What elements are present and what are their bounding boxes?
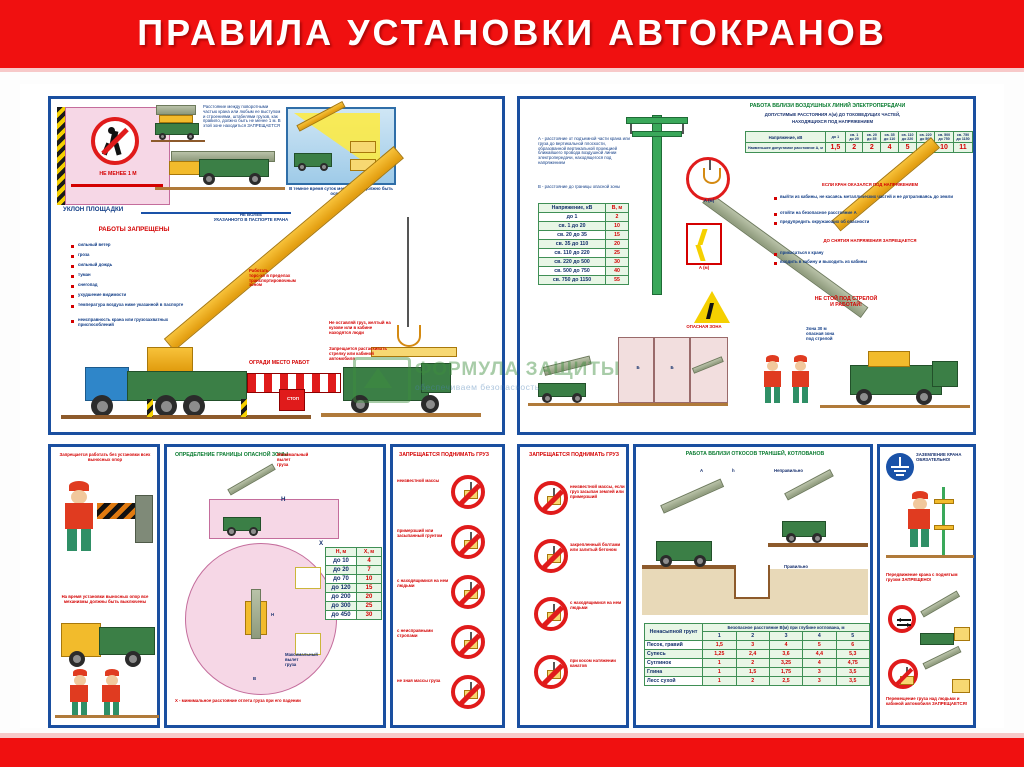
no-move-with-load-icon xyxy=(888,605,916,633)
panel-forbidden-lift-1: ЗАПРЕЩАЕТСЯ ПОДНИМАТЬ ГРУЗ неизвестной м… xyxy=(390,444,505,728)
bottom-note: Перемещение груза над людьми и кабиной а… xyxy=(886,697,972,707)
crane-boom-left-bank xyxy=(660,479,724,514)
table-cell: 30 xyxy=(357,611,382,620)
table-cell: св. 110 до 220 xyxy=(539,249,606,258)
forbidden-work-item: гроза xyxy=(78,253,186,258)
prohibition-icon xyxy=(534,481,568,515)
table-cell: Глина xyxy=(645,668,703,677)
ground-right xyxy=(768,543,868,547)
table-cell: 20 xyxy=(357,593,382,602)
pylon-crossarm xyxy=(632,131,682,137)
crane-plan-boom xyxy=(251,589,261,639)
crane-cab-right xyxy=(932,361,958,387)
suspended-load xyxy=(954,627,970,641)
table-header-cell: Безопасное расстояние В(м) при глубине к… xyxy=(703,624,870,632)
table-header-cell: 3 xyxy=(769,632,802,641)
ground-line xyxy=(61,415,311,419)
table-cell: 11 xyxy=(954,143,973,153)
table-row: до 7010 xyxy=(326,575,382,584)
list-bullet xyxy=(71,275,74,278)
table-cell: 4 xyxy=(769,641,802,650)
table-cell: 2 xyxy=(736,677,769,686)
outrigger xyxy=(147,399,153,417)
under-voltage-title: ЕСЛИ КРАН ОКАЗАЛСЯ ПОД НАПРЯЖЕНИЕМ xyxy=(770,183,970,188)
table-cell: до 300 xyxy=(326,602,357,611)
worker-figure xyxy=(59,481,99,551)
pylon-crossarm xyxy=(626,117,688,124)
worker-figure xyxy=(99,669,123,715)
power-line-title-3: НАХОДЯЩИХСЯ ПОД НАПРЯЖЕНИЕМ xyxy=(690,120,975,125)
table-row: до 207 xyxy=(326,566,382,575)
page-title: ПРАВИЛА УСТАНОВКИ АВТОКРАНОВ xyxy=(0,12,1024,54)
list-bullet xyxy=(71,265,74,268)
shock-caption: А (м) xyxy=(680,266,728,271)
wheel xyxy=(249,527,258,536)
table-header-cell: св. 750 до 1150 xyxy=(954,132,973,143)
worker-zone-note: Работать торс-хо в пределах транспортиро… xyxy=(249,269,305,288)
table-cell: 25 xyxy=(606,249,629,258)
table-cell: 2 xyxy=(863,143,881,153)
table-cell: до 450 xyxy=(326,611,357,620)
table-row: св. 20 до 3515 xyxy=(539,231,629,240)
panel-outriggers: Запрещается работать без установки всех … xyxy=(48,444,160,728)
table-cell: Суглинок xyxy=(645,659,703,668)
clearance-arrow xyxy=(71,184,163,187)
forbidden-work-item: ухудшение видимости xyxy=(78,293,186,298)
watermark-logo xyxy=(353,357,411,403)
table-cell: 10 xyxy=(606,222,629,231)
label-wrong: Неправильно xyxy=(774,469,803,474)
wheel xyxy=(856,389,872,405)
table-row: Лесс сухой122,533,5 xyxy=(645,677,870,686)
table-header-cell: 2 xyxy=(736,632,769,641)
wheel xyxy=(812,533,822,543)
earth-clamp xyxy=(934,525,954,530)
crane-chassis-b6 xyxy=(920,633,954,645)
table-header-cell: X, м xyxy=(357,548,382,557)
earth-rod xyxy=(942,487,945,557)
table-cell: 4 xyxy=(881,143,899,153)
list-item: предупредить окружающих об опасности xyxy=(780,220,972,225)
table-header-cell: Напряжение, кВ xyxy=(746,132,826,143)
no-pedestrian-caption: НЕ МЕНЕЕ 1 М xyxy=(69,172,167,178)
table-row: св. 500 до 75040 xyxy=(539,267,629,276)
list-bullet xyxy=(774,262,777,265)
table-header-cell: св. 500 до 750 xyxy=(935,132,954,143)
hook-icon xyxy=(397,325,421,347)
prohibition-icon xyxy=(534,539,568,573)
no-load-over-people-icon xyxy=(888,659,918,689)
table-header-cell: В, м xyxy=(606,204,629,213)
label-h: h xyxy=(732,469,735,474)
prohibition-label: примерзший или засыпанный грунтом xyxy=(397,529,449,539)
stacked-load-top xyxy=(156,105,196,115)
worker-figure xyxy=(67,669,91,715)
prohibition-icon xyxy=(451,475,485,509)
worker-figure xyxy=(904,491,934,547)
table-cell: 1 xyxy=(703,677,736,686)
table-row: Суглинок123,2544,75 xyxy=(645,659,870,668)
table-cell: 1,5 xyxy=(825,143,845,153)
wheel xyxy=(187,133,194,140)
prohibition-icon xyxy=(534,655,568,689)
table-cell: 15 xyxy=(357,584,382,593)
table-header-cell: Наименьшее допустимое расстояние А, м xyxy=(746,143,826,153)
wheel xyxy=(91,395,113,417)
table-cell: 3,6 xyxy=(769,650,802,659)
prohibition-label: с находящимися на нем людьми xyxy=(397,579,449,589)
hx-table: H, мX, мдо 104до 207до 7010до 12015до 20… xyxy=(325,547,382,620)
forbidden-work-item: туман xyxy=(78,273,186,278)
table-row: Супесь1,252,43,64,45,3 xyxy=(645,650,870,659)
wheel xyxy=(183,395,205,417)
prohibition-label: не зная массы груза xyxy=(397,679,449,684)
table-header-cell: до 1 xyxy=(825,132,845,143)
crane-boom-b6-2 xyxy=(922,646,961,670)
table-header-cell: св. 20 до 35 xyxy=(863,132,881,143)
allowed-distance-table: Напряжение, кВдо 1св. 1 до 20св. 20 до 3… xyxy=(745,131,973,153)
list-item: входить в кабину и выходить из кабины xyxy=(780,260,972,265)
crane-superstructure xyxy=(169,161,201,175)
table-cell: св. 20 до 35 xyxy=(539,231,606,240)
list-bullet xyxy=(71,305,74,308)
trench xyxy=(734,565,770,599)
table-row: Напряжение, кВдо 1св. 1 до 20св. 20 до 3… xyxy=(746,132,973,143)
wheel xyxy=(694,555,706,567)
table-header-cell: 4 xyxy=(803,632,836,641)
table-row: до 20020 xyxy=(326,593,382,602)
table-header-cell: 1 xyxy=(703,632,736,641)
outrigger xyxy=(241,399,247,417)
danger-zone-circle xyxy=(686,157,730,201)
panel-earthing: ЗАЗЕМЛЕНИЕ КРАНА ОБЯЗАТЕЛЬНО! Передвижен… xyxy=(877,444,976,728)
table-cell: Лесс сухой xyxy=(645,677,703,686)
table-cell: 4 xyxy=(357,557,382,566)
ground-line xyxy=(155,187,285,190)
wheel xyxy=(660,555,672,567)
ground-line xyxy=(321,413,481,417)
panel-forbidden-lift-2: ЗАПРЕЩАЕТСЯ ПОДНИМАТЬ ГРУЗ неизвестной м… xyxy=(517,444,629,728)
table-cell: 2 xyxy=(845,143,863,153)
prohibition-icon xyxy=(534,597,568,631)
list-item: выйти из кабины, не касаясь металлически… xyxy=(780,195,972,200)
table-cell: 6 xyxy=(836,641,870,650)
forbidden-lift-title-2: ЗАПРЕЩАЕТСЯ ПОДНИМАТЬ ГРУЗ xyxy=(524,453,624,459)
table-cell: св. 35 до 110 xyxy=(539,240,606,249)
worker-figure xyxy=(788,355,812,403)
stacked-load-mid xyxy=(159,115,193,123)
danger-zone-label: ОПАСНАЯ ЗОНА xyxy=(680,325,728,330)
list-bullet xyxy=(774,213,777,216)
zone-note: Зона 30 м опасная зона под стрелой xyxy=(806,327,862,341)
truck-chassis xyxy=(99,627,155,655)
prohibition-icon xyxy=(451,625,485,659)
header-band: ПРАВИЛА УСТАНОВКИ АВТОКРАНОВ xyxy=(0,0,1024,68)
watermark-brand: ФОРМУЛА ЗАЩИТЫ xyxy=(415,359,621,381)
crane-boom-sm xyxy=(227,463,276,495)
table-cell: 55 xyxy=(606,276,629,285)
table-cell: 30 xyxy=(606,258,629,267)
wheel xyxy=(786,533,796,543)
table-cell: 1,5 xyxy=(736,668,769,677)
table-cell: 15 xyxy=(606,231,629,240)
table-cell: 1 xyxy=(703,668,736,677)
fence-label: ОГРАДИ МЕСТО РАБОТ xyxy=(249,361,309,367)
plan-angle: H xyxy=(271,613,274,618)
table-header-cell: Ненасыпной грунт xyxy=(645,624,703,641)
table-header-cell: св. 110 до 220 xyxy=(899,132,917,143)
before-off-title: ДО СНЯТИЯ НАПРЯЖЕНИЯ ЗАПРЕЩАЕТСЯ xyxy=(770,239,970,244)
wheel xyxy=(69,651,85,667)
table-row: Ненасыпной грунтБезопасное расстояние В(… xyxy=(645,624,870,632)
table-row: св. 35 до 11020 xyxy=(539,240,629,249)
ground-line xyxy=(55,715,159,718)
cable-marker: А (м) xyxy=(684,199,734,204)
list-bullet xyxy=(71,320,74,323)
prohibition-label: с находящимися на нем людьми xyxy=(570,601,626,611)
wheel xyxy=(125,651,141,667)
list-bullet xyxy=(774,253,777,256)
prohibition-icon xyxy=(451,675,485,709)
b-label: B xyxy=(253,677,256,682)
table-cell: 25 xyxy=(357,602,382,611)
min-reach-box xyxy=(295,567,321,589)
table-cell: 5,3 xyxy=(836,650,870,659)
note-b: В - расстояние до границы опасной зоны xyxy=(538,185,630,190)
slope-note: НЕ БОЛЕЕ УКАЗАННОГО В ПАСПОРТЕ КРАНА xyxy=(201,213,301,223)
ground-line xyxy=(886,555,974,558)
table-cell: до 70 xyxy=(326,575,357,584)
outrigger-jack xyxy=(135,495,153,543)
stop-sign: СТОП xyxy=(279,389,305,411)
panel-trenches: РАБОТА ВБЛИЗИ ОТКОСОВ ТРАНШЕЙ, КОТЛОВАНО… xyxy=(633,444,873,728)
list-bullet xyxy=(774,222,777,225)
outrigger-caption: Запрещается работать без установки всех … xyxy=(55,453,155,463)
forbidden-work-item: температура воздуха ниже указанной в пас… xyxy=(78,303,186,308)
poster: ПРАВИЛА УСТАНОВКИ АВТОКРАНОВ НЕ МЕНЕЕ 1 … xyxy=(0,0,1024,767)
watermark-tagline: обеспечиваем безопасность xyxy=(415,382,540,392)
table-cell: 20 xyxy=(606,240,629,249)
prohibition-label: неизвестной массы, если груз засыпан зем… xyxy=(570,485,626,499)
table-cell: 3,25 xyxy=(769,659,802,668)
wheel xyxy=(159,133,166,140)
forbidden-work-item: сильный ветер xyxy=(78,243,186,248)
earth-clamp xyxy=(934,499,954,504)
table-header-cell: св. 35 до 110 xyxy=(881,132,899,143)
power-line-title-2: ДОПУСТИМЫЕ РАССТОЯНИЯ А(м) ДО ТОКОВЕДУЩИ… xyxy=(690,113,975,118)
forbidden-lift-title-1: ЗАПРЕЩАЕТСЯ ПОДНИМАТЬ ГРУЗ xyxy=(399,453,499,459)
table-cell: до 120 xyxy=(326,584,357,593)
wheel xyxy=(227,527,236,536)
prohibition-label: закрепленный болтами или залитый бетоном xyxy=(570,543,626,553)
x-label: X xyxy=(319,541,323,548)
voltage-zone-table: Напряжение, кВВ, мдо 12св. 1 до 2010св. … xyxy=(538,203,629,285)
table-cell: 3 xyxy=(803,668,836,677)
prohibition-label: при косом натяжении канатов xyxy=(570,659,626,669)
prohibition-label: неизвестной массы xyxy=(397,479,449,484)
table-row: до 30025 xyxy=(326,602,382,611)
table-cell: до 20 xyxy=(326,566,357,575)
worker-figure xyxy=(760,355,784,403)
table-cell: 40 xyxy=(606,267,629,276)
list-bullet xyxy=(774,197,777,200)
note-max-reach: Максимальный вылет груза xyxy=(285,653,343,667)
wheel xyxy=(916,389,932,405)
table-cell: св. 500 до 750 xyxy=(539,267,606,276)
table-cell: 3 xyxy=(736,641,769,650)
dont-stand-title: НЕ СТОЙ ПОД СТРЕЛОЙ И РАБОТАЙ! xyxy=(746,297,946,309)
table-cell: Песок, гравий xyxy=(645,641,703,650)
table-header-cell: св. 1 до 20 xyxy=(845,132,863,143)
header-separator xyxy=(0,68,1024,72)
list-bullet xyxy=(71,245,74,248)
wheel xyxy=(249,173,261,185)
table-row: H, мX, м xyxy=(326,548,382,557)
wheel xyxy=(155,395,177,417)
prohibition-icon xyxy=(451,525,485,559)
power-pylon xyxy=(652,115,662,295)
table-row: св. 750 до 115055 xyxy=(539,276,629,285)
table-cell: до 10 xyxy=(326,557,357,566)
move-note: Передвижение крана с поднятым грузом ЗАП… xyxy=(886,573,970,583)
table-cell: 1,5 xyxy=(703,641,736,650)
insulator xyxy=(682,124,684,134)
table-cell: 2 xyxy=(736,659,769,668)
table-cell: св. 220 до 500 xyxy=(539,258,606,267)
table-cell: 10 xyxy=(357,575,382,584)
table-row: св. 220 до 50030 xyxy=(539,258,629,267)
list-bullet xyxy=(71,285,74,288)
ground-line xyxy=(151,140,205,142)
crane-turret-right xyxy=(868,351,910,367)
list-bullet xyxy=(71,295,74,298)
table-cell: 2,4 xyxy=(736,650,769,659)
table-cell: 1 xyxy=(703,659,736,668)
forbidden-works-title: РАБОТЫ ЗАПРЕЩЕНЫ xyxy=(79,227,189,234)
table-cell: Супесь xyxy=(645,650,703,659)
table-cell: 2,5 xyxy=(769,677,802,686)
outrigger-caption-2: На время установки выносных опор все мех… xyxy=(55,595,155,605)
panel-danger-zone: ОПРЕДЕЛЕНИЕ ГРАНИЦЫ ОПАСНОЙ ЗОНЫ H X Мин… xyxy=(164,444,386,728)
ground-line xyxy=(820,405,970,408)
table-cell: до 200 xyxy=(326,593,357,602)
table-cell: 7 xyxy=(357,566,382,575)
list-item: отойти на безопасное расстояние А xyxy=(780,211,972,216)
trench-title: РАБОТА ВБЛИЗИ ОТКОСОВ ТРАНШЕЙ, КОТЛОВАНО… xyxy=(640,452,870,458)
table-cell: до 1 xyxy=(539,213,606,222)
clearance-note: Расстояние между пово­ротными частью кра… xyxy=(203,105,281,139)
earthing-icon xyxy=(886,453,914,481)
table-row: до 45030 xyxy=(326,611,382,620)
crane-turret xyxy=(147,347,193,373)
table-header-cell: H, м xyxy=(326,548,357,557)
table-row: до 12015 xyxy=(326,584,382,593)
table-cell: 4,75 xyxy=(836,659,870,668)
prohibition-icon xyxy=(451,575,485,609)
insulator xyxy=(630,124,632,134)
table-cell: 4 xyxy=(803,659,836,668)
soil-distance-table: Ненасыпной грунтБезопасное расстояние В(… xyxy=(644,623,870,686)
cabin-note: Не оставляй груз, желтый на кузове или в… xyxy=(329,321,395,335)
forbidden-work-item: сильный дождь xyxy=(78,263,186,268)
table-row: Глина11,51,7533,5 xyxy=(645,668,870,677)
table-cell: 3,5 xyxy=(836,668,870,677)
suspended-load xyxy=(952,679,970,693)
table-cell: 3,5 xyxy=(836,677,870,686)
power-line-title-1: РАБОТА ВБЛИЗИ ВОЗДУШНЫХ ЛИНИЙ ЭЛЕКТРОПЕР… xyxy=(680,104,975,110)
table-header-cell: 5 xyxy=(836,632,870,641)
earthing-title: ЗАЗЕМЛЕНИЕ КРАНА ОБЯЗАТЕЛЬНО! xyxy=(916,453,970,463)
footer-band xyxy=(0,738,1024,767)
no-pedestrian-icon xyxy=(91,117,139,165)
electric-shock-illustration xyxy=(686,223,722,265)
list-item: прикасаться к крану xyxy=(780,251,972,256)
table-cell: св. 1 до 20 xyxy=(539,222,606,231)
table-row: св. 1 до 2010 xyxy=(539,222,629,231)
hatch-pole xyxy=(57,107,65,205)
table-row: до 104 xyxy=(326,557,382,566)
table-cell: 4,4 xyxy=(803,650,836,659)
h-label: H xyxy=(281,497,285,504)
table-cell: 3 xyxy=(803,677,836,686)
slope-label: УКЛОН ПЛОЩАДКИ xyxy=(63,207,123,214)
table-header-cell: Напряжение, кВ xyxy=(539,204,606,213)
label-a: А xyxy=(700,469,703,474)
table-row: св. 110 до 22025 xyxy=(539,249,629,258)
hoist-cable xyxy=(407,217,409,327)
note-a: А - расстояние от подъем­ной части крана… xyxy=(538,137,630,166)
table-cell: 1,25 xyxy=(703,650,736,659)
note-min-reach: Минимальный вылет грузa xyxy=(277,453,337,467)
table-cell: 1,75 xyxy=(769,668,802,677)
note-x: X - минимальное расстояние отлета груза … xyxy=(175,699,325,704)
prohibition-label: с неисправными стропами xyxy=(397,629,449,639)
forbidden-work-item: снегопад xyxy=(78,283,186,288)
table-cell: 2 xyxy=(606,213,629,222)
table-cell: 5 xyxy=(803,641,836,650)
table-row: Песок, гравий1,53456 xyxy=(645,641,870,650)
table-row: до 12 xyxy=(539,213,629,222)
watermark: ФОРМУЛА ЗАЩИТЫ обеспечиваем безопасность xyxy=(345,355,675,405)
crane-boom-b6 xyxy=(920,590,960,617)
wheel xyxy=(203,173,215,185)
table-cell: св. 750 до 1150 xyxy=(539,276,606,285)
list-bullet xyxy=(71,255,74,258)
forbidden-work-item: неисправность крана или грузозахватных п… xyxy=(78,318,186,328)
